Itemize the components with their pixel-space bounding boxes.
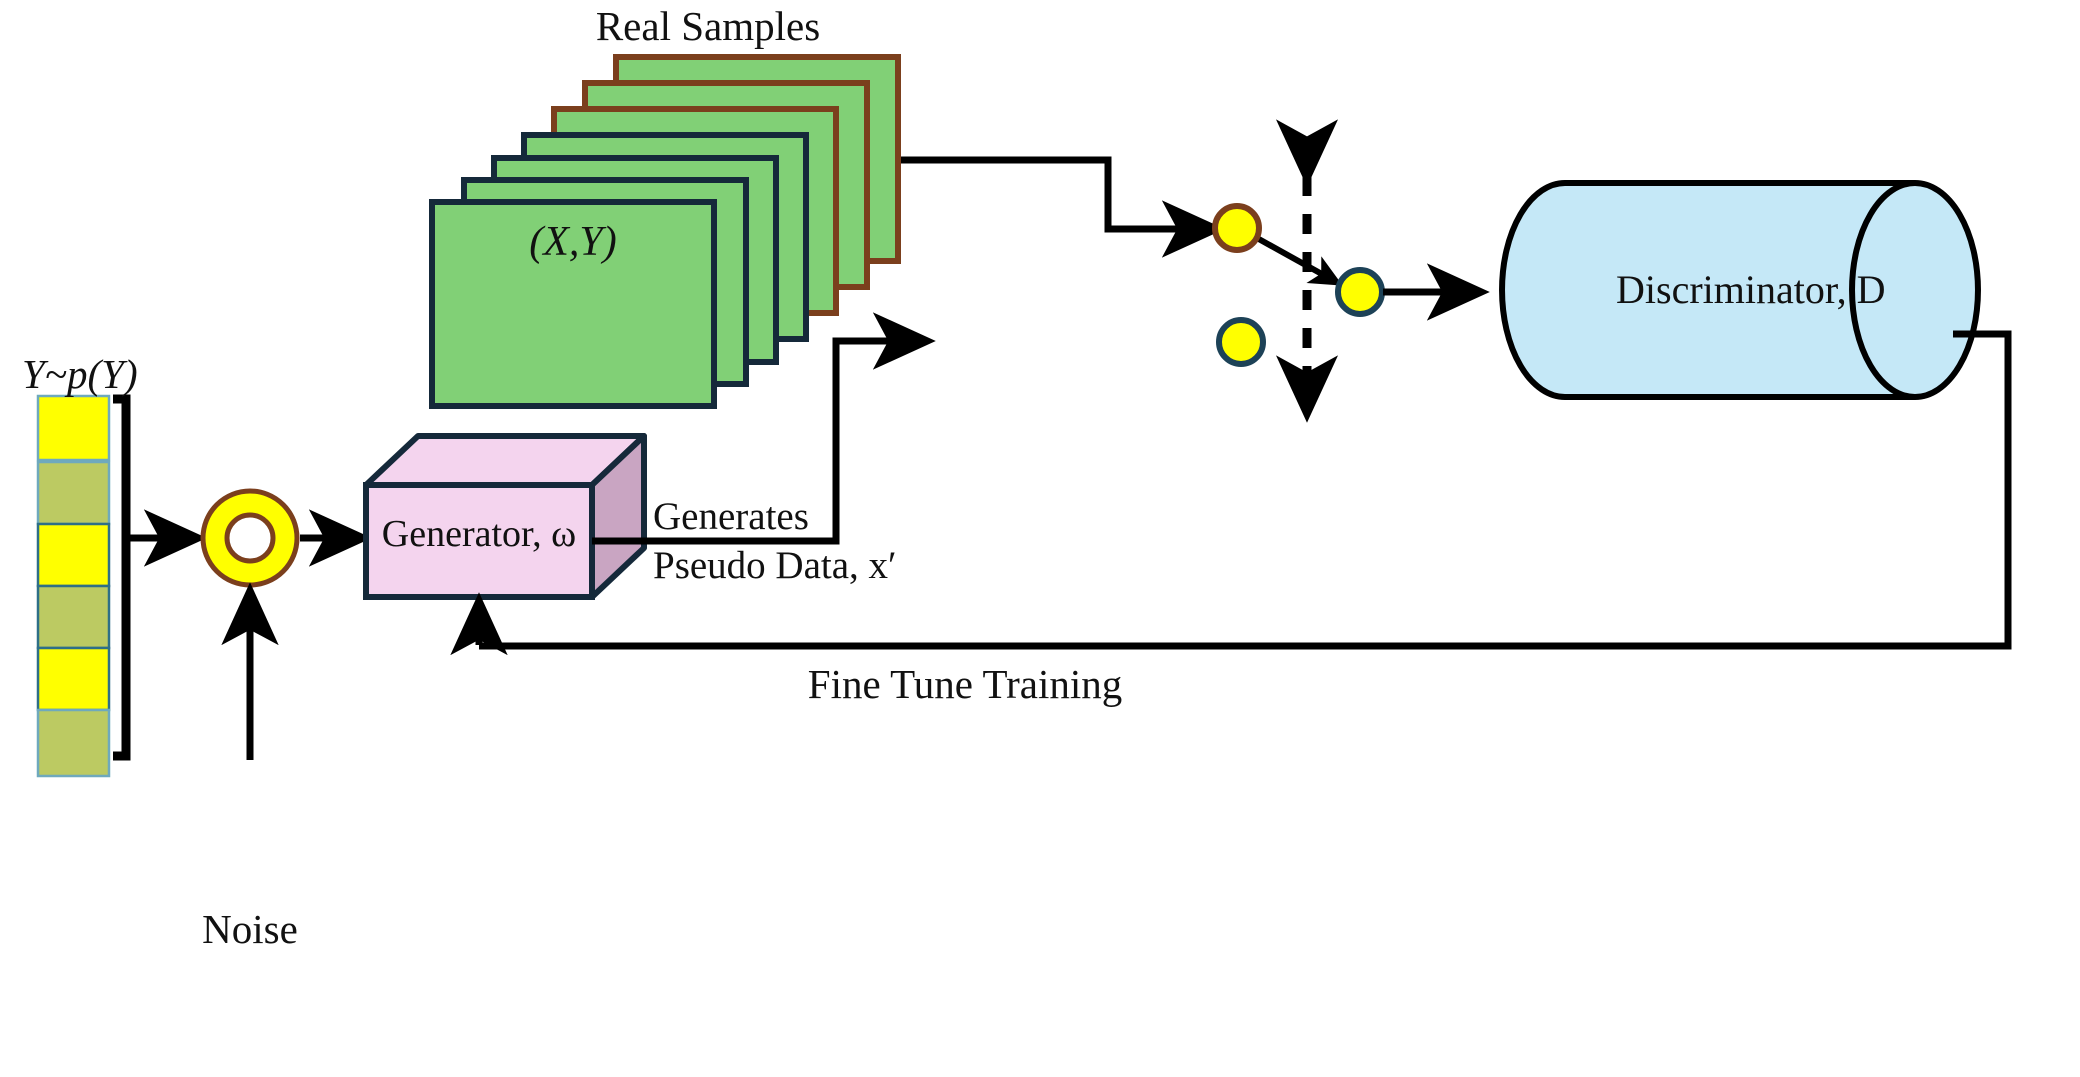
y-cell-5: [38, 710, 109, 776]
fine-tune-label: Fine Tune Training: [808, 660, 1122, 708]
real-samples-title: Real Samples: [596, 2, 820, 50]
pseudo-data-label: Pseudo Data, x′: [653, 543, 897, 588]
y-cell-0: [38, 396, 109, 460]
switch-terminal-fake[interactable]: [1219, 320, 1263, 364]
switch-terminal-real[interactable]: [1215, 206, 1259, 250]
y-cell-1: [38, 462, 109, 524]
real-samples-to-switch-path: [901, 160, 1215, 229]
diagram-canvas: Real Samples (X,Y) Y~p(Y) Noise Generato…: [0, 0, 2080, 1077]
y-vector: [38, 396, 109, 776]
switch-terminal-common[interactable]: [1338, 270, 1382, 314]
y-vector-bracket: [113, 399, 126, 756]
noise-ring-icon: [203, 491, 297, 585]
switch-blade[interactable]: [1257, 238, 1338, 283]
sample-card-label: (X,Y): [529, 218, 617, 266]
noise-label: Noise: [202, 905, 298, 953]
generates-label: Generates: [653, 494, 809, 539]
y-cell-2: [38, 524, 109, 586]
switch-assembly: [1215, 176, 1382, 412]
diagram-svg: [0, 0, 2080, 1077]
y-cell-3: [38, 586, 109, 648]
real-samples-stack: [432, 57, 898, 406]
y-cell-4: [38, 648, 109, 710]
discriminator-label: Discriminator, D: [1616, 266, 1885, 313]
y-distribution-label: Y~p(Y): [22, 350, 138, 398]
generator-label: Generator, ω: [382, 512, 576, 556]
